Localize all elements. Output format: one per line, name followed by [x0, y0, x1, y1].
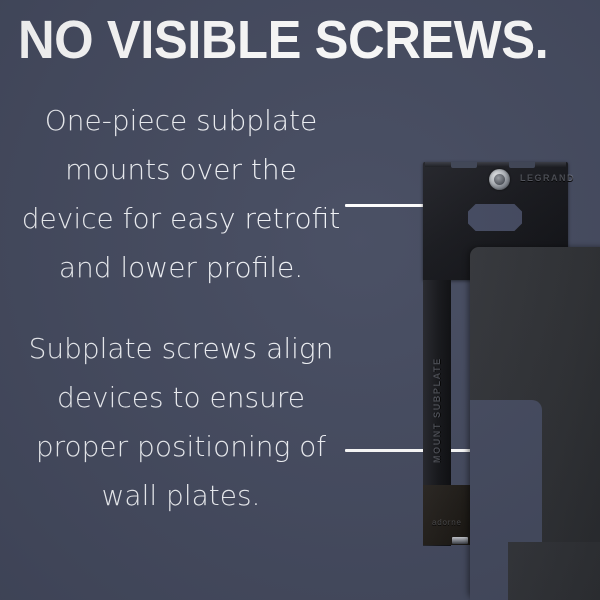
subplate-leg-mark-text: adorne [432, 518, 462, 527]
subplate-notch-left [451, 162, 477, 168]
feature-paragraph-2: Subplate screws align devices to ensure … [16, 324, 346, 520]
wall-plate-lower-section [508, 542, 600, 600]
feature-paragraph-1: One-piece subplate mounts over the devic… [16, 96, 346, 292]
page-title: NO VISIBLE SCREWS. [18, 12, 559, 68]
subplate-screw [489, 169, 510, 190]
feature-description-block: One-piece subplate mounts over the devic… [16, 96, 346, 520]
subplate-notch-right [509, 162, 535, 168]
subplate-screw-bottom-left [452, 537, 468, 544]
product-feature-graphic: NO VISIBLE SCREWS. One-piece subplate mo… [0, 0, 600, 600]
subplate-leg-emboss-text: MOUNT SUBPLATE [423, 290, 451, 530]
product-image: LEGRAND MOUNT SUBPLATE adorne THIS SIDE … [390, 130, 600, 600]
brand-emboss-text: LEGRAND [520, 173, 575, 183]
subplate-device-cutout [468, 204, 522, 231]
